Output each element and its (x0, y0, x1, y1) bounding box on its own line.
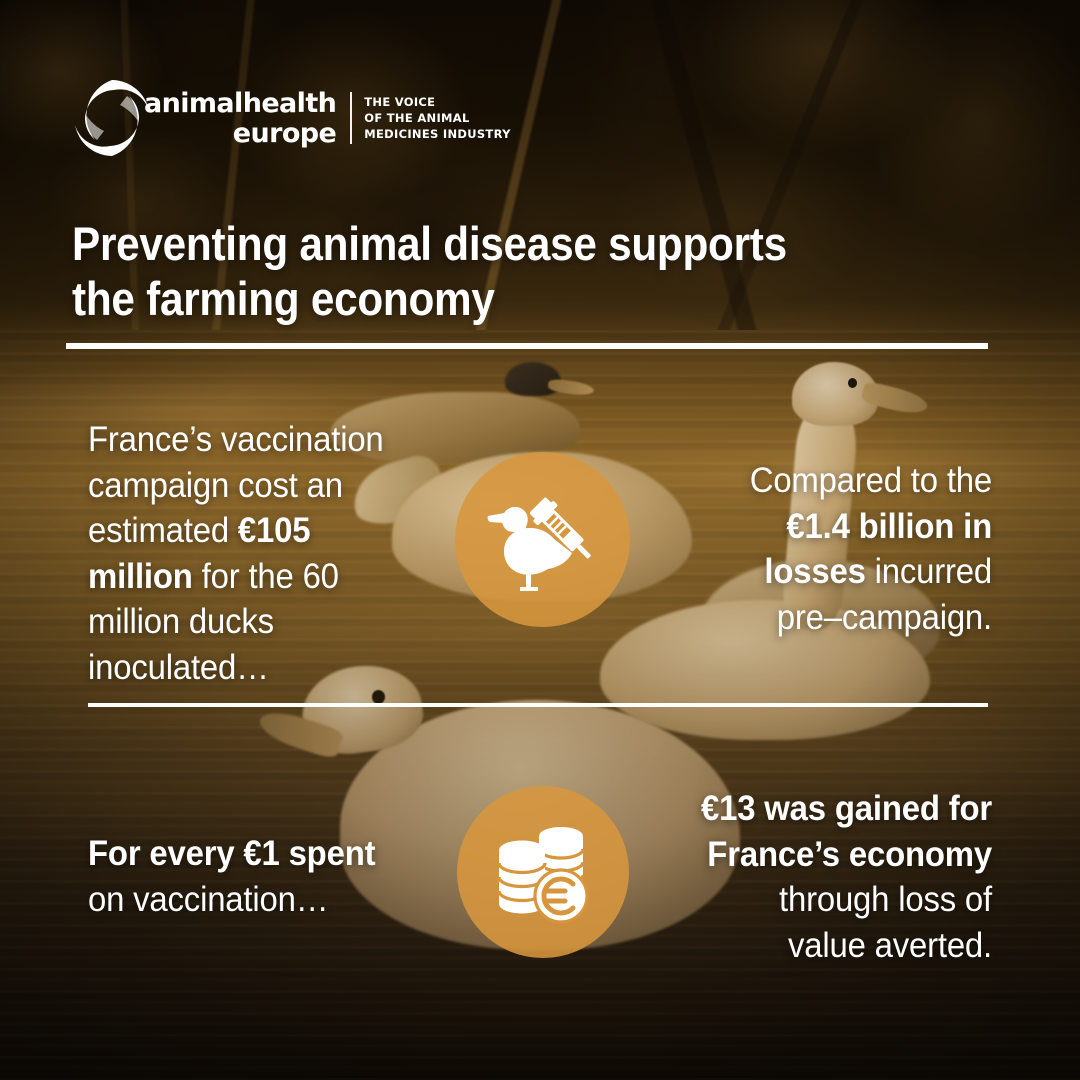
page-title: Preventing animal disease supports the f… (72, 216, 810, 327)
stat-1-left-text: France’s vaccination campaign cost an es… (88, 417, 408, 690)
euro-coins-stack-icon (457, 786, 629, 958)
brand-wordmark-line2: europe (233, 120, 336, 147)
tagline-line2: OF THE ANIMAL (364, 112, 510, 124)
page-title-line1: Preventing animal disease supports (72, 216, 810, 271)
circular-hands-swoosh-icon (70, 76, 154, 160)
brand-logo: animalhealth europe THE VOICE OF THE ANI… (70, 72, 511, 164)
stat-2-left-text: For every €1 spent on vaccination… (88, 831, 398, 922)
infographic-canvas: animalhealth europe THE VOICE OF THE ANI… (0, 0, 1080, 1080)
brand-wordmark: animalhealth europe (144, 90, 336, 147)
page-title-line2: the farming economy (72, 271, 810, 326)
tagline-line3: MEDICINES INDUSTRY (364, 128, 510, 140)
brand-tagline: THE VOICE OF THE ANIMAL MEDICINES INDUST… (364, 96, 510, 140)
duck-syringe-icon (455, 452, 630, 627)
tagline-line1: THE VOICE (364, 96, 510, 108)
divider-middle (88, 703, 988, 707)
stat-1-right-text: Compared to the €1.4 billion in losses i… (710, 458, 992, 640)
stat-2-right-text: €13 was gained for France’s economy thro… (701, 786, 992, 968)
divider-top (66, 343, 988, 349)
brand-wordmark-line1: animalhealth (144, 90, 336, 117)
logo-divider (350, 92, 352, 144)
